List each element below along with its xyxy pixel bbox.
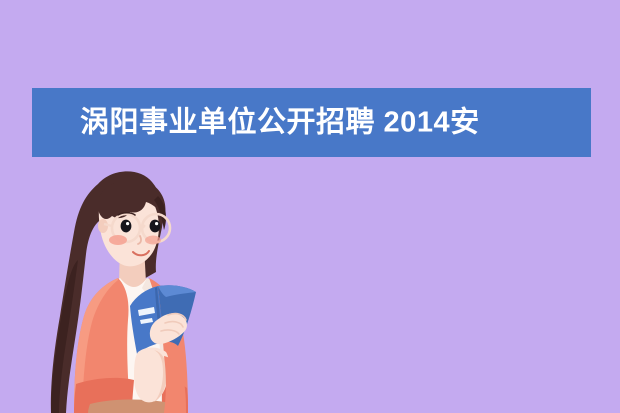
woman-reading-illustration: [34, 160, 224, 413]
cheek-right: [145, 236, 161, 245]
cover-canvas: 涡阳事业单位公开招聘 2014安: [0, 0, 620, 413]
eye-left: [121, 220, 132, 233]
eye-right: [150, 220, 161, 233]
page-title: 涡阳事业单位公开招聘 2014安: [80, 108, 480, 137]
title-banner: 涡阳事业单位公开招聘 2014安: [32, 88, 591, 157]
ear: [98, 219, 108, 233]
eye-highlight-right: [155, 222, 158, 225]
eye-highlight-left: [126, 222, 129, 225]
cheek-left: [109, 235, 127, 245]
